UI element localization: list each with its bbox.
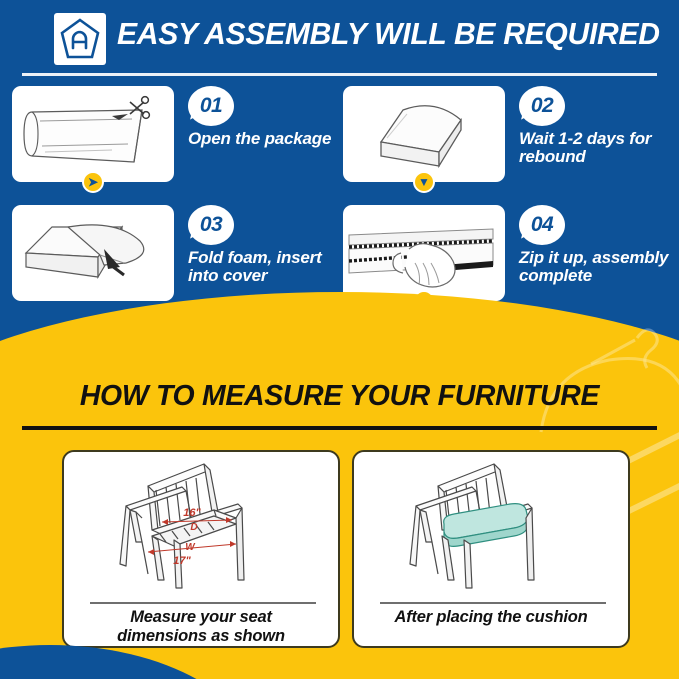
page-title: EASY ASSEMBLY WILL BE REQUIRED xyxy=(117,16,660,52)
card-divider xyxy=(380,602,606,604)
step-text-02: 02 Wait 1-2 days for rebound xyxy=(519,86,673,166)
step-text-04: 04 Zip it up, assembly complete xyxy=(519,205,673,285)
step-number: 03 xyxy=(200,213,222,237)
step-number-badge-01: 01 xyxy=(188,86,234,126)
step-text-03: 03 Fold foam, insert into cover xyxy=(188,205,342,285)
step-number-badge-04: 04 xyxy=(519,205,565,245)
step-label: Fold foam, insert into cover xyxy=(188,249,342,285)
step-number-badge-02: 02 xyxy=(519,86,565,126)
step-label: Zip it up, assembly complete xyxy=(519,249,673,285)
infographic-root: EASY ASSEMBLY WILL BE REQUIRED xyxy=(0,0,679,679)
house-pentagon-icon xyxy=(54,13,106,65)
step-label: Open the package xyxy=(188,130,342,148)
measure-title: HOW TO MEASURE YOUR FURNITURE xyxy=(7,380,672,413)
card-caption: Measure your seat dimensions as shown xyxy=(64,608,338,646)
foam-folded-into-cover-illustration xyxy=(12,205,174,301)
step-card-02: ▼ 02 Wait 1-2 days for rebound xyxy=(343,86,673,191)
assembly-steps: ➤ 01 Open the package xyxy=(0,86,679,311)
caption-line-2: dimensions as shown xyxy=(74,627,328,646)
hand-zipping-cover-illustration: ◀ xyxy=(343,205,505,301)
step-number: 04 xyxy=(531,213,553,237)
step-number-badge-03: 03 xyxy=(188,205,234,245)
step-card-01: ➤ 01 Open the package xyxy=(12,86,342,191)
card-divider xyxy=(90,602,316,604)
step-label: Wait 1-2 days for rebound xyxy=(519,130,673,166)
foam-cushion-block-illustration: ▼ xyxy=(343,86,505,182)
caption-line-1: After placing the cushion xyxy=(364,608,618,627)
measure-cards: 16" D W 17" Measure your seat dimensions… xyxy=(0,450,679,665)
arrow-right-icon: ➤ xyxy=(82,171,104,193)
card-caption: After placing the cushion xyxy=(354,608,628,627)
measure-divider xyxy=(22,426,657,430)
step-number: 02 xyxy=(531,94,553,118)
chair-with-cushion-illustration xyxy=(354,456,628,596)
width-size-label: 17" xyxy=(173,555,191,567)
measure-card-dimensions: 16" D W 17" Measure your seat dimensions… xyxy=(62,450,340,648)
caption-line-1: Measure your seat xyxy=(74,608,328,627)
depth-size-label: 16" xyxy=(183,507,201,519)
width-letter-label: W xyxy=(185,542,196,553)
package-roll-with-scissors-illustration: ➤ xyxy=(12,86,174,182)
depth-letter-label: D xyxy=(190,522,197,533)
assembly-header: EASY ASSEMBLY WILL BE REQUIRED xyxy=(0,0,679,76)
step-number: 01 xyxy=(200,94,222,118)
measure-section: HOW TO MEASURE YOUR FURNITURE xyxy=(0,300,679,679)
chair-with-dimensions-illustration: 16" D W 17" xyxy=(64,456,338,596)
step-text-01: 01 Open the package xyxy=(188,86,342,148)
header-divider xyxy=(22,73,657,76)
arrow-down-icon: ▼ xyxy=(413,171,435,193)
measure-card-cushion: After placing the cushion xyxy=(352,450,630,648)
